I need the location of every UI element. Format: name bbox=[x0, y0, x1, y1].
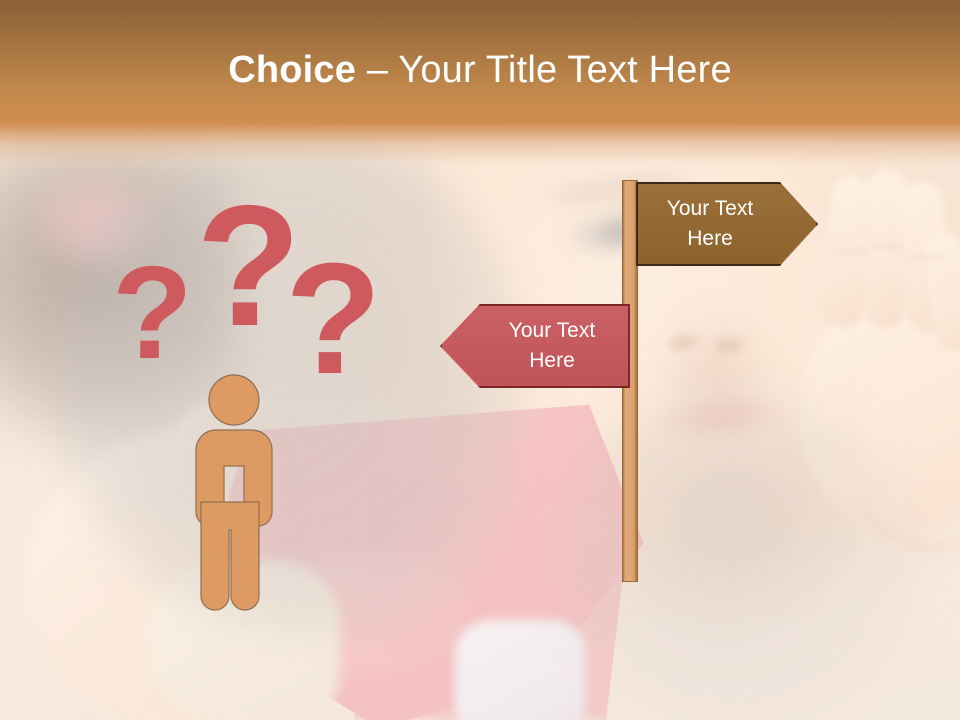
callout-sign-brown-label: Your Text Here bbox=[667, 194, 753, 254]
page-title: Choice – Your Title Text Here bbox=[0, 48, 960, 92]
person-pictogram-icon bbox=[172, 372, 296, 626]
callout-brown-line-2: Here bbox=[667, 224, 753, 254]
title-separator: – bbox=[356, 49, 398, 91]
callout-sign-red[interactable]: Your Text Here bbox=[440, 304, 630, 388]
callout-red-line-2: Here bbox=[509, 346, 595, 376]
title-emphasis: Choice bbox=[228, 49, 356, 91]
title-rest: Your Title Text Here bbox=[398, 49, 732, 91]
callout-sign-red-label: Your Text Here bbox=[509, 316, 595, 376]
callout-brown-line-1: Your Text bbox=[667, 194, 753, 224]
callout-red-line-1: Your Text bbox=[509, 316, 595, 346]
question-mark-icon-right: ? bbox=[285, 240, 382, 398]
question-mark-icon-left: ? bbox=[112, 247, 193, 379]
slide-canvas: Choice – Your Title Text Here ? ? ? Your… bbox=[0, 0, 960, 720]
callout-sign-brown[interactable]: Your Text Here bbox=[636, 182, 818, 266]
